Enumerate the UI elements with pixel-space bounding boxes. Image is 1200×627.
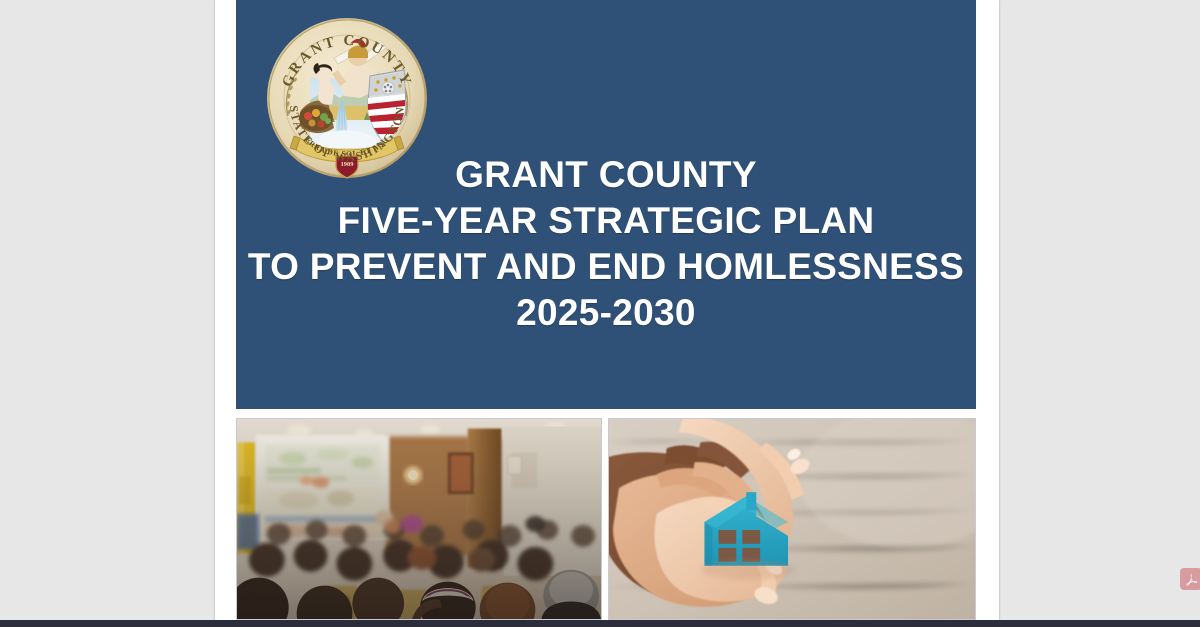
title-line-3: TO PREVENT AND END HOMLESSNESS	[236, 244, 976, 290]
title-line-4: 2025-2030	[236, 290, 976, 336]
adobe-acrobat-icon[interactable]	[1180, 568, 1200, 590]
conference-audience-photo	[236, 418, 602, 620]
title-line-1: GRANT COUNTY	[236, 152, 976, 198]
pdf-page: TERRA DE SOL ET AQUA 1909 GRANT COUNTY S…	[215, 0, 999, 620]
document-title: GRANT COUNTY FIVE-YEAR STRATEGIC PLAN TO…	[236, 152, 976, 336]
viewer-bottom-bar	[0, 620, 1200, 627]
hands-holding-house-photo	[608, 418, 976, 620]
title-banner: TERRA DE SOL ET AQUA 1909 GRANT COUNTY S…	[236, 0, 976, 409]
photo-strip	[236, 418, 976, 620]
title-line-2: FIVE-YEAR STRATEGIC PLAN	[236, 198, 976, 244]
pdf-viewer-canvas[interactable]: TERRA DE SOL ET AQUA 1909 GRANT COUNTY S…	[0, 0, 1200, 620]
